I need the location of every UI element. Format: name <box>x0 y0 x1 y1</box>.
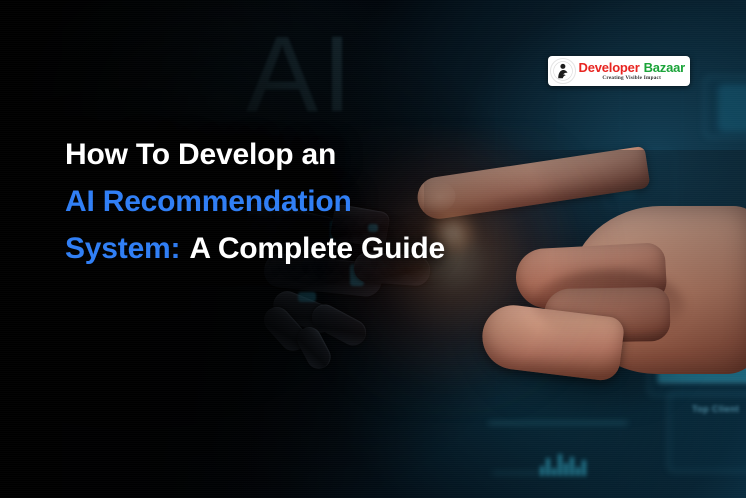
page-title: How To Develop an AI Recommendation Syst… <box>65 131 445 272</box>
logo-word-developer: Developer <box>579 61 640 74</box>
logo-wordmark: Developer Bazaar <box>579 61 686 74</box>
headline-line-3: System:A Complete Guide <box>65 225 445 272</box>
logo-text-block: Developer Bazaar Creating Visible Impact <box>579 60 686 81</box>
person-in-circle-icon <box>550 58 576 84</box>
logo-word-bazaar: Bazaar <box>644 61 685 74</box>
headline-accent: System: <box>65 232 180 265</box>
brand-logo[interactable]: Developer Bazaar Creating Visible Impact <box>548 56 691 86</box>
headline-line-3-rest: A Complete Guide <box>189 232 445 265</box>
headline-line-1: How To Develop an <box>65 131 445 178</box>
index-finger <box>415 146 651 222</box>
logo-tagline: Creating Visible Impact <box>579 76 686 81</box>
dashboard-progress-line-2 <box>492 472 540 474</box>
dashboard-block-right-edge <box>718 84 746 132</box>
headline-line-2: AI Recommendation <box>65 178 445 225</box>
banner-root: AI Top Client <box>0 0 746 498</box>
dashboard-bar-chart <box>540 452 586 476</box>
dashboard-progress-line <box>488 422 628 424</box>
human-hand-image <box>424 150 746 400</box>
ai-watermark-text: AI <box>246 11 356 136</box>
